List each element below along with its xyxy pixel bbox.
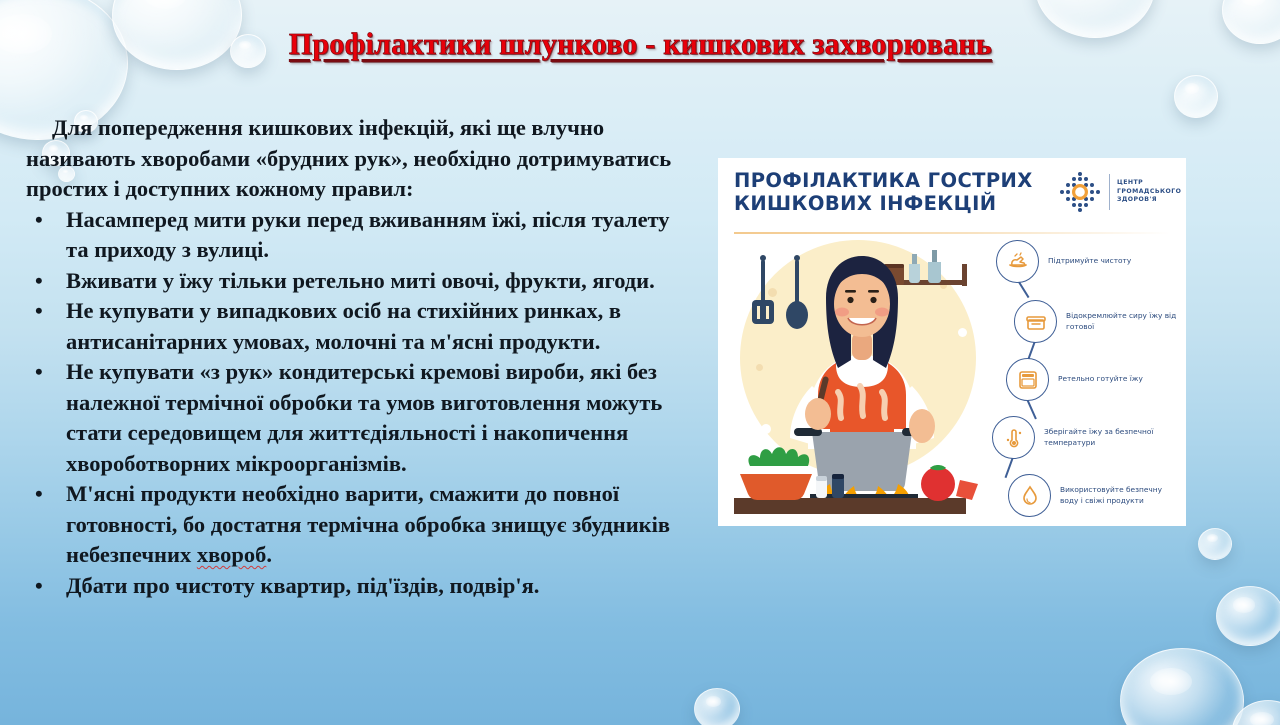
list-item: • Дбати про чистоту квартир, під'їздів, …: [26, 571, 686, 602]
list-item: • Не купувати «з рук» кондитерські кремо…: [26, 357, 686, 479]
counter-icon: [734, 498, 966, 514]
utensil-spatula-icon: [752, 255, 774, 324]
bubble-decoration: [1198, 528, 1232, 560]
intro-paragraph: Для попередження кишкових інфекцій, які …: [26, 113, 686, 205]
step-icon-circle: [1014, 300, 1057, 343]
list-item: • Вживати у їжу тільки ретельно миті ово…: [26, 266, 686, 297]
list-item: • М'ясні продукти необхідно варити, смаж…: [26, 479, 686, 571]
steam-icon: [882, 392, 885, 418]
bottle-icon: [909, 254, 920, 283]
thermometer-icon: [1002, 426, 1026, 450]
oven-icon: [1016, 368, 1040, 392]
step-item: Ретельно готуйте їжу: [1006, 358, 1178, 401]
bullet-icon: •: [35, 571, 43, 602]
slide-title: Профілактики шлунково - кишкових захворю…: [0, 26, 1280, 62]
steam-icon: [860, 386, 863, 416]
tomato-icon: [921, 467, 955, 501]
list-item-label: Дбати про чистоту квартир, під'їздів, по…: [66, 573, 539, 598]
cooking-illustration: [726, 236, 998, 522]
list-item-label: М'ясні продукти необхідно варити, смажит…: [66, 481, 670, 567]
water-drop-icon: [1018, 484, 1042, 508]
step-icon-circle: [1006, 358, 1049, 401]
hand-wash-icon: [1006, 250, 1030, 274]
bubble-decoration: [694, 688, 740, 725]
logo-mark-icon: [1058, 170, 1102, 214]
infographic-panel: ПРОФІЛАКТИКА ГОСТРИХ КИШКОВИХ ІНФЕКЦІЙ: [718, 158, 1186, 526]
tomato-slice-icon: [956, 480, 978, 500]
public-health-center-logo: ЦЕНТР ГРОМАДСЬКОГО ЗДОРОВ'Я: [1058, 170, 1181, 214]
bullet-icon: •: [35, 266, 43, 297]
infographic-title: ПРОФІЛАКТИКА ГОСТРИХ КИШКОВИХ ІНФЕКЦІЙ: [734, 169, 1034, 215]
step-item: Відокремлюйте сиру їжу від готової: [1014, 300, 1186, 343]
hand-icon: [805, 398, 831, 430]
step-label: Відокремлюйте сиру їжу від готової: [1066, 311, 1186, 332]
bubble-decoration: [1174, 75, 1218, 118]
slide-canvas: Профілактики шлунково - кишкових захворю…: [0, 0, 1280, 725]
bubble-decoration: [1120, 648, 1244, 725]
step-item: Підтримуйте чистоту: [996, 240, 1168, 283]
bullet-icon: •: [35, 205, 43, 236]
logo-line-2: ГРОМАДСЬКОГО: [1117, 188, 1181, 196]
list-item: • Не купувати у випадкових осіб на стихі…: [26, 296, 686, 357]
misspelled-word: хвороб: [197, 542, 267, 567]
list-item-label: Не купувати у випадкових осіб на стихійн…: [66, 298, 621, 354]
logo-line-3: ЗДОРОВ'Я: [1117, 196, 1181, 204]
step-item: Зберігайте їжу за безпечної температури: [992, 416, 1164, 459]
step-icon-circle: [1008, 474, 1051, 517]
food-container-icon: [1024, 310, 1048, 334]
salad-bowl-icon: [740, 447, 812, 500]
list-item-label: Вживати у їжу тільки ретельно миті овочі…: [66, 268, 655, 293]
logo-divider: [1109, 174, 1110, 210]
content-text-column: Для попередження кишкових інфекцій, які …: [26, 113, 686, 601]
prevention-steps-list: Підтримуйте чистоту Відокремлюйте сиру ї…: [990, 238, 1182, 522]
eye-icon: [847, 297, 853, 303]
rules-list: • Насамперед мити руки перед вживанням ї…: [26, 205, 686, 602]
step-label: Підтримуйте чистоту: [1048, 256, 1168, 267]
eyebrow-icon: [868, 290, 879, 293]
steam-icon: [838, 392, 841, 418]
bottle-icon: [928, 250, 941, 283]
step-item: Використовуйте безпечну воду і свіжі про…: [1008, 474, 1180, 517]
list-item-label: Не купувати «з рук» кондитерські кремові…: [66, 359, 662, 476]
step-label: Ретельно готуйте їжу: [1058, 374, 1178, 385]
eye-icon: [870, 297, 876, 303]
cooking-scene-svg: [726, 236, 998, 522]
step-label: Зберігайте їжу за безпечної температури: [1044, 427, 1164, 448]
logo-text: ЦЕНТР ГРОМАДСЬКОГО ЗДОРОВ'Я: [1117, 179, 1181, 204]
hand-icon: [909, 409, 935, 443]
infographic-header: ПРОФІЛАКТИКА ГОСТРИХ КИШКОВИХ ІНФЕКЦІЙ: [718, 158, 1186, 232]
page-title: Профілактики шлунково - кишкових захворю…: [288, 26, 991, 62]
utensil-spoon-icon: [786, 255, 808, 329]
header-divider: [734, 232, 1170, 234]
infographic-title-line2: КИШКОВИХ ІНФЕКЦІЙ: [734, 192, 1034, 215]
step-icon-circle: [992, 416, 1035, 459]
bullet-icon: •: [35, 479, 43, 510]
infographic-title-line1: ПРОФІЛАКТИКА ГОСТРИХ: [734, 169, 1034, 192]
list-item: • Насамперед мити руки перед вживанням ї…: [26, 205, 686, 266]
bullet-icon: •: [35, 296, 43, 327]
bullet-icon: •: [35, 357, 43, 388]
step-icon-circle: [996, 240, 1039, 283]
step-label: Використовуйте безпечну воду і свіжі про…: [1060, 485, 1180, 506]
eyebrow-icon: [845, 290, 856, 293]
bubble-decoration: [1216, 586, 1280, 646]
list-item-label: Насамперед мити руки перед вживанням їжі…: [66, 207, 670, 263]
bubble-decoration: [1232, 700, 1280, 725]
logo-line-1: ЦЕНТР: [1117, 179, 1181, 187]
